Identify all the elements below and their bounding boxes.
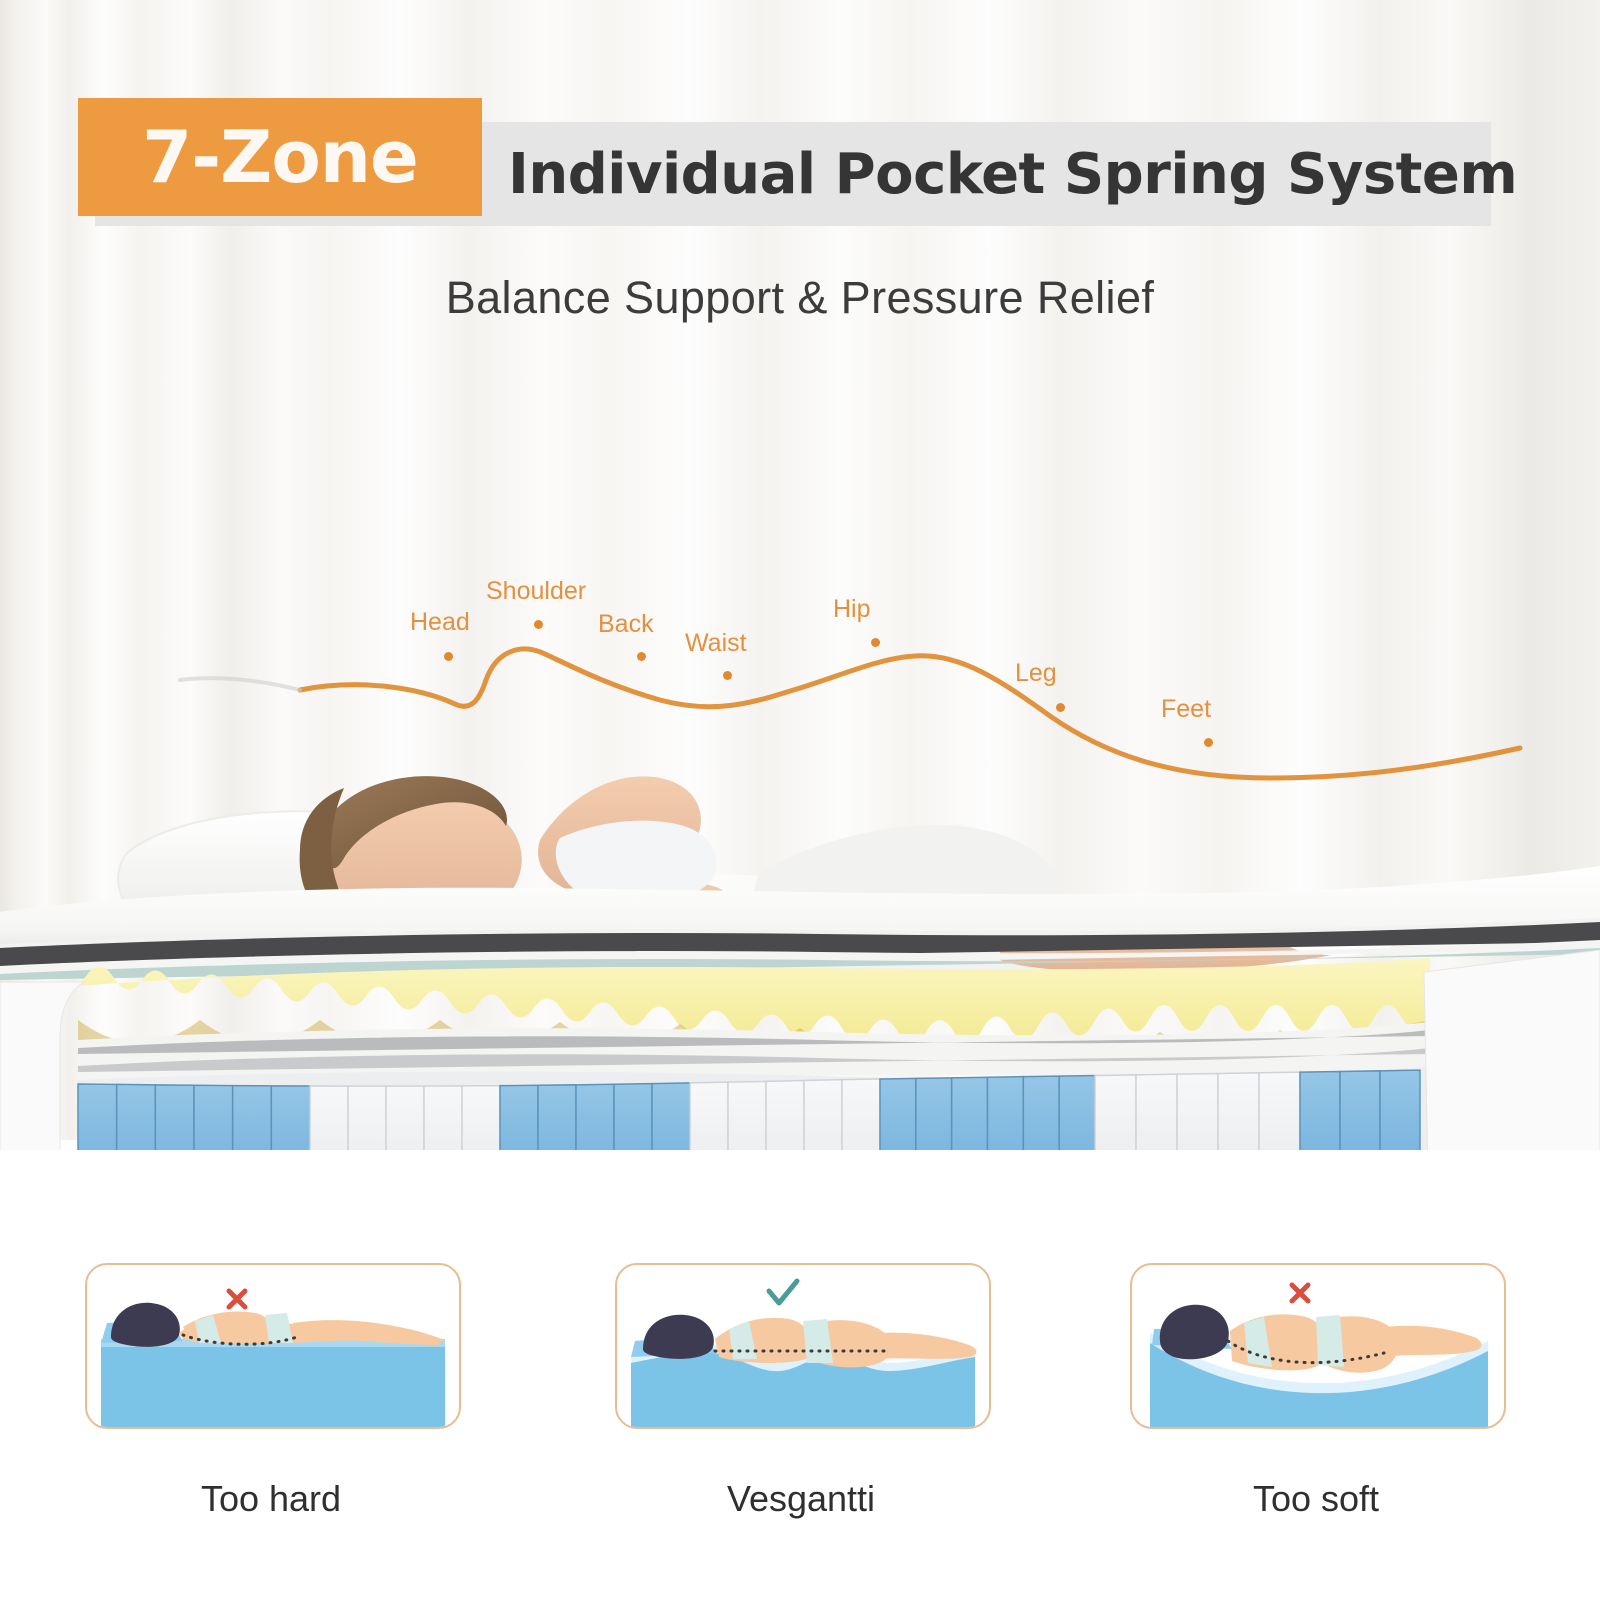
caption-too-hard: Too hard	[85, 1478, 457, 1520]
body-contour-curve-fade	[180, 678, 300, 690]
pocket-spring-coil-waist	[690, 1082, 728, 1150]
pocket-spring-coil-feet	[1340, 1071, 1380, 1150]
pocket-spring-coil-hip	[952, 1077, 988, 1150]
pocket-spring-coil-waist	[842, 1079, 880, 1150]
mattress-side-panel-left	[0, 982, 90, 1150]
too-hard-cloth-2	[265, 1313, 293, 1343]
pocket-spring-coil-shoulder	[348, 1086, 386, 1150]
caption-too-soft: Too soft	[1130, 1478, 1502, 1520]
pocket-spring-coil-leg	[1259, 1072, 1300, 1150]
pocket-spring-coil-feet	[1300, 1071, 1340, 1150]
seven-zone-badge: 7-Zone	[78, 98, 482, 216]
too-hard-hair	[111, 1303, 180, 1347]
page-title: Individual Pocket Spring System	[508, 128, 1517, 220]
vesgantti-torso	[715, 1318, 811, 1363]
too-soft-illustration	[1132, 1265, 1504, 1427]
pocket-spring-coil-leg	[1136, 1074, 1177, 1150]
too-soft-legs	[1379, 1326, 1482, 1357]
vesgantti-legs	[872, 1333, 977, 1359]
pocket-spring-coil-waist	[728, 1081, 766, 1150]
vesgantti-hair	[643, 1315, 714, 1359]
vesgantti-illustration	[617, 1265, 989, 1427]
pocket-spring-coil-waist	[766, 1081, 804, 1150]
pocket-spring-coil-shoulder	[424, 1086, 462, 1150]
pocket-spring-coil-head	[78, 1084, 117, 1150]
pocket-spring-coil-hip	[988, 1077, 1024, 1150]
pocket-spring-coil-shoulder	[310, 1086, 348, 1150]
mattress-cross-section	[0, 866, 1600, 1150]
pocket-spring-coil-feet	[1380, 1070, 1420, 1150]
pocket-spring-coil-hip	[1023, 1076, 1059, 1150]
pocket-spring-coil-leg	[1095, 1075, 1136, 1150]
pocket-spring-coil-hip	[916, 1078, 952, 1150]
mattress-scene-svg	[0, 520, 1600, 1150]
pocket-spring-coil-shoulder	[386, 1086, 424, 1150]
comparison-card-vesgantti	[615, 1263, 991, 1429]
pocket-spring-coil-shoulder	[462, 1086, 500, 1150]
cross-icon	[229, 1291, 245, 1307]
pocket-spring-coil-head	[155, 1085, 194, 1150]
pocket-spring-coil-back	[614, 1084, 652, 1150]
pocket-spring-coil-leg	[1177, 1073, 1218, 1150]
cross-icon	[1292, 1285, 1308, 1301]
pocket-spring-coil-hip	[880, 1078, 916, 1150]
pocket-spring-coil-leg	[1218, 1073, 1259, 1150]
mattress-side-panel-right	[1400, 950, 1600, 1150]
pocket-spring-coil-back	[652, 1083, 690, 1150]
too-hard-mattress	[101, 1343, 445, 1427]
pocket-spring-coil-head	[117, 1084, 156, 1150]
page-subtitle: Balance Support & Pressure Relief	[0, 272, 1600, 324]
too-hard-illustration	[87, 1265, 459, 1427]
pocket-spring-coil-head	[233, 1086, 272, 1150]
seven-zone-badge-label: 7-Zone	[142, 115, 418, 199]
pocket-spring-coil-back	[576, 1084, 614, 1150]
too-soft-cloth-2	[1316, 1315, 1344, 1367]
too-soft-hair	[1160, 1305, 1229, 1359]
comparison-card-row	[0, 1255, 1600, 1455]
check-icon	[769, 1281, 797, 1303]
pocket-spring-coil-back	[538, 1085, 576, 1150]
pocket-spring-coil-waist	[804, 1080, 842, 1150]
pocket-spring-coil-hip	[1059, 1075, 1095, 1150]
caption-vesgantti: Vesgantti	[615, 1478, 987, 1520]
comparison-card-too-hard	[85, 1263, 461, 1429]
body-contour-curve	[300, 649, 1520, 778]
pocket-spring-coil-head	[271, 1086, 310, 1150]
mattress-scene	[0, 520, 1600, 1150]
comparison-card-too-soft	[1130, 1263, 1506, 1429]
pocket-spring-coil-back	[500, 1085, 538, 1150]
pocket-spring-coil-head	[194, 1085, 233, 1150]
